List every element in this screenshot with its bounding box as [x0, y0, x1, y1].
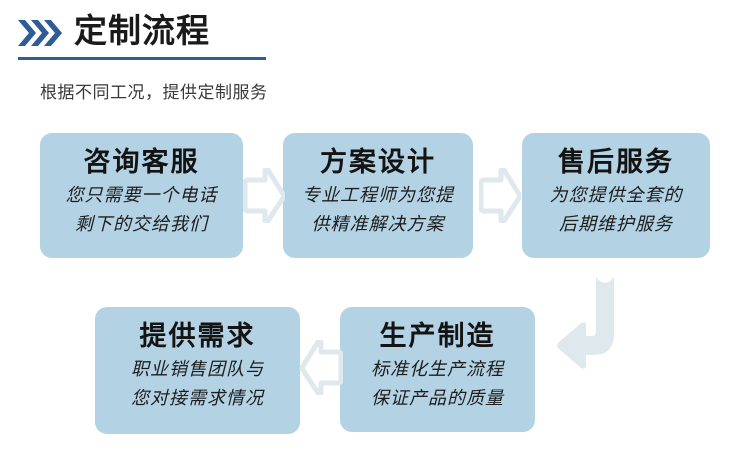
flow-step-title: 提供需求 [140, 319, 256, 355]
flow-step-line: 剩下的交给我们 [75, 210, 208, 239]
flow-step-consultation: 咨询客服 您只需要一个电话 剩下的交给我们 [40, 133, 243, 258]
flow-step-line: 为您提供全套的 [550, 181, 683, 210]
arrow-u-turn-down-left-icon [556, 275, 660, 380]
page-header: 定制流程 [18, 8, 318, 60]
arrow-right-icon [479, 168, 521, 223]
page-subtitle: 根据不同工况，提供定制服务 [40, 78, 268, 103]
flow-step-line: 后期维护服务 [559, 210, 673, 239]
flow-step-title: 咨询客服 [84, 145, 200, 181]
triple-chevron-right-icon [18, 20, 64, 46]
flow-step-title: 方案设计 [320, 145, 436, 181]
flow-step-requirements: 提供需求 职业销售团队与 您对接需求情况 [95, 307, 300, 434]
arrow-right-icon [243, 168, 285, 223]
flow-step-after-sales: 售后服务 为您提供全套的 后期维护服务 [522, 133, 710, 258]
arrow-left-icon [299, 340, 343, 395]
page-title: 定制流程 [74, 10, 210, 52]
flow-step-line: 标准化生产流程 [371, 355, 504, 384]
flow-step-line: 供精准解决方案 [312, 210, 445, 239]
flow-step-title: 售后服务 [558, 145, 674, 181]
flow-step-line: 您只需要一个电话 [66, 181, 218, 210]
flow-step-manufacturing: 生产制造 标准化生产流程 保证产品的质量 [340, 307, 535, 432]
flow-step-line: 专业工程师为您提 [302, 181, 454, 210]
flow-step-line: 职业销售团队与 [131, 355, 264, 384]
flow-step-title: 生产制造 [380, 319, 496, 355]
flow-step-line: 保证产品的质量 [371, 384, 504, 413]
title-underline-rule [18, 57, 266, 60]
flow-step-line: 您对接需求情况 [131, 384, 264, 413]
flow-step-design: 方案设计 专业工程师为您提 供精准解决方案 [283, 133, 473, 258]
